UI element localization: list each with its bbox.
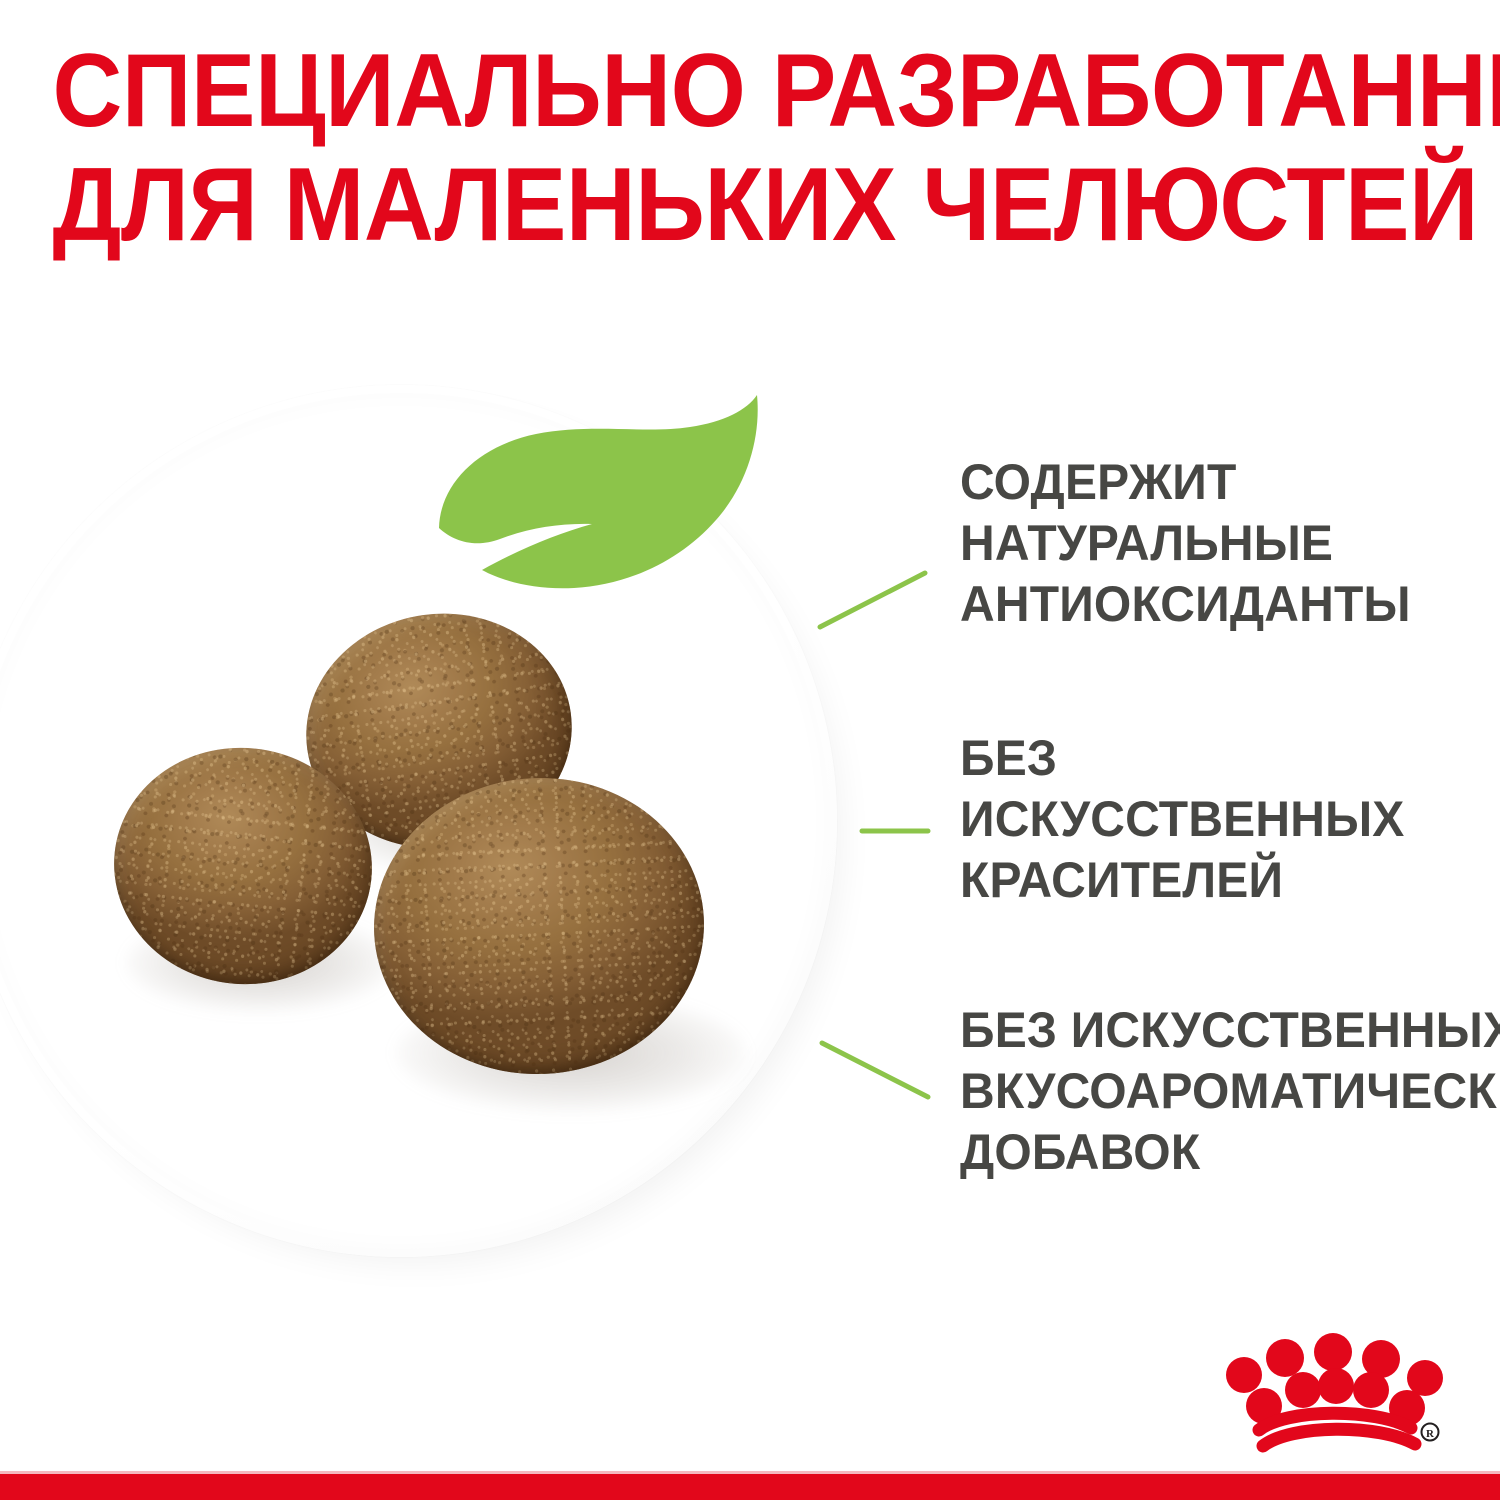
feature-line: СОДЕРЖИТ	[960, 452, 1411, 513]
feature-line: НАТУРАЛЬНЫЕ	[960, 513, 1411, 574]
kibble-group	[96, 596, 756, 1116]
feature-line: ДОБАВОК	[960, 1122, 1500, 1183]
feature-line: ВКУСОАРОМАТИЧЕСКИХ	[960, 1061, 1500, 1122]
crown-arcs	[1259, 1413, 1415, 1446]
leaf-icon	[432, 388, 762, 614]
feature-line: ИСКУССТВЕННЫХ	[960, 789, 1404, 850]
feature-item-no-artificial-colours: БЕЗ ИСКУССТВЕННЫХ КРАСИТЕЛЕЙ	[960, 728, 1404, 911]
feature-line: КРАСИТЕЛЕЙ	[960, 850, 1404, 911]
page-title: СПЕЦИАЛЬНО РАЗРАБОТАННЫЕ ГРАНУЛЫ ДЛЯ МАЛ…	[53, 34, 1448, 262]
page-title-line-1: СПЕЦИАЛЬНО РАЗРАБОТАННЫЕ ГРАНУЛЫ	[53, 34, 1448, 148]
trademark-symbol: R	[1422, 1424, 1439, 1441]
product-feature-panel: СПЕЦИАЛЬНО РАЗРАБОТАННЫЕ ГРАНУЛЫ ДЛЯ МАЛ…	[0, 0, 1500, 1500]
footer-bar	[0, 1474, 1500, 1500]
connector-line-1	[820, 573, 925, 627]
royal-canin-crown-logo: R	[1225, 1328, 1447, 1456]
feature-line: БЕЗ ИСКУССТВЕННЫХ	[960, 1000, 1500, 1061]
feature-line: БЕЗ	[960, 728, 1404, 789]
feature-item-natural-antioxidants: СОДЕРЖИТ НАТУРАЛЬНЫЕ АНТИОКСИДАНТЫ	[960, 452, 1411, 635]
feature-item-no-artificial-flavours: БЕЗ ИСКУССТВЕННЫХ ВКУСОАРОМАТИЧЕСКИХ ДОБ…	[960, 1000, 1500, 1183]
connector-line-3	[822, 1043, 928, 1097]
feature-line: АНТИОКСИДАНТЫ	[960, 574, 1411, 635]
page-title-line-2: ДЛЯ МАЛЕНЬКИХ ЧЕЛЮСТЕЙ ЩЕНКОВ	[53, 148, 1448, 262]
svg-text:R: R	[1426, 1428, 1435, 1440]
